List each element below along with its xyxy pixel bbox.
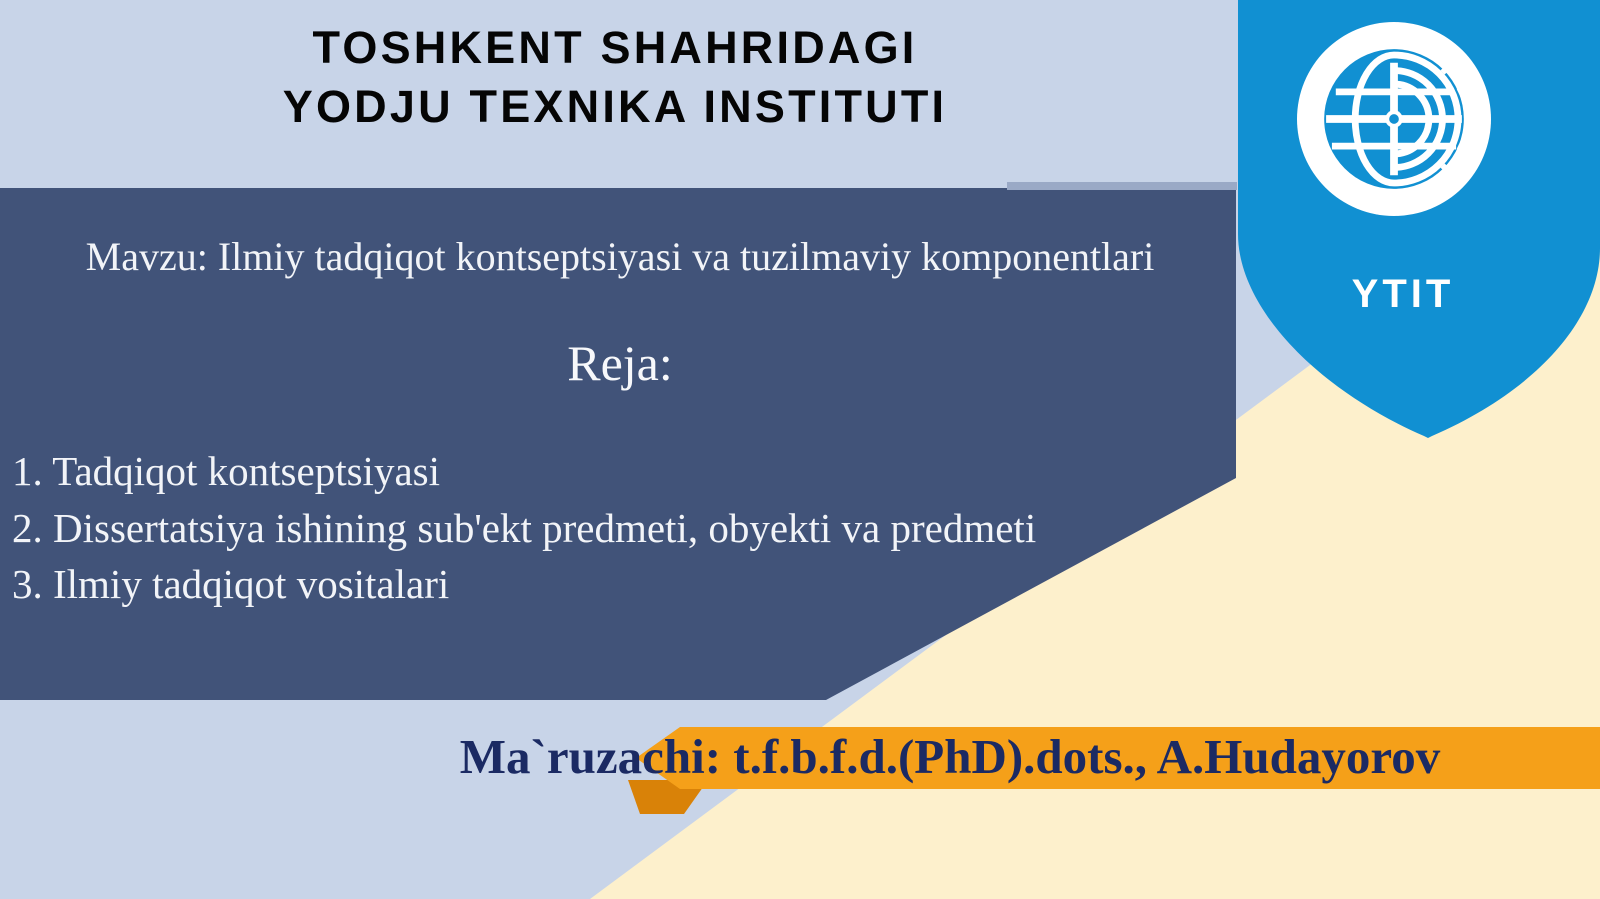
subject-line-1: Mavzu: Ilmiy tadqiqot kontseptsiyasi va …	[86, 234, 911, 279]
page-title: TOSHKENT SHAHRIDAGI YODJU TEXNIKA INSTIT…	[0, 18, 1230, 137]
page-title-line-1: TOSHKENT SHAHRIDAGI	[0, 18, 1230, 77]
list-item: 1. Tadqiqot kontseptsiyasi	[12, 443, 1192, 500]
globe-target-icon	[1297, 22, 1491, 216]
speaker-credit: Ma`ruzachi: t.f.b.f.d.(PhD).dots., A.Hud…	[300, 726, 1600, 788]
plan-heading: Reja:	[60, 336, 1180, 391]
institute-logo: YTIT	[1238, 0, 1600, 438]
subject-line-2: komponentlari	[921, 234, 1154, 279]
list-item: 2. Dissertatsiya ishining sub'ekt predme…	[12, 500, 1192, 557]
subject-text: Mavzu: Ilmiy tadqiqot kontseptsiyasi va …	[60, 232, 1180, 282]
list-item: 3. Ilmiy tadqiqot vositalari	[12, 556, 1192, 613]
plan-list: 1. Tadqiqot kontseptsiyasi 2. Dissertats…	[12, 443, 1192, 613]
logo-label: YTIT	[1238, 272, 1568, 317]
header-divider	[1007, 182, 1237, 190]
page-title-line-2: YODJU TEXNIKA INSTITUTI	[0, 77, 1230, 136]
presentation-slide: TOSHKENT SHAHRIDAGI YODJU TEXNIKA INSTIT…	[0, 0, 1600, 899]
